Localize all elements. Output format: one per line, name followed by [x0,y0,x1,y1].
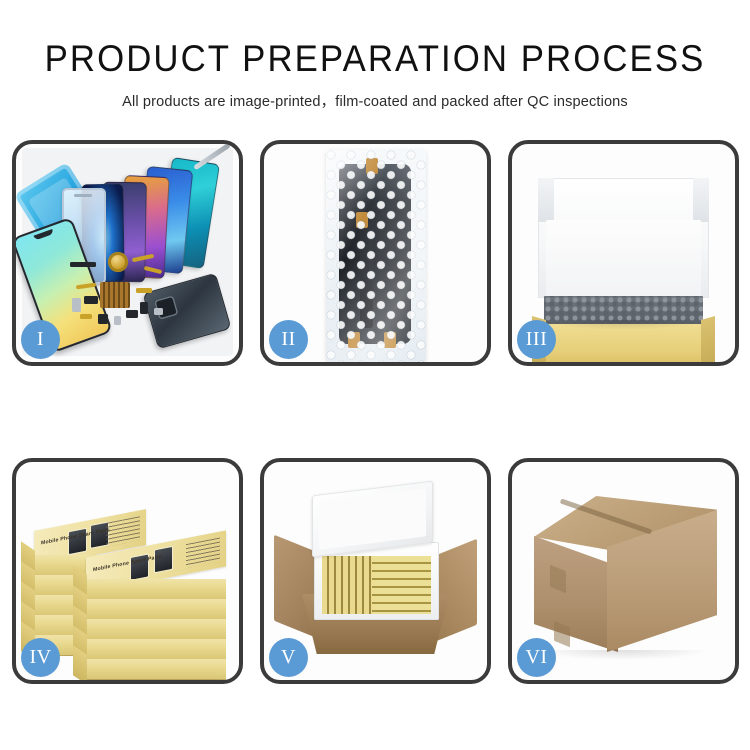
small-components-group [70,258,190,344]
open-carton-group [274,484,477,662]
box-spec-lines [106,516,140,547]
retail-box-edge [86,659,226,680]
carton-left-face [534,536,618,652]
page-subtitle: All products are image-printed，film-coat… [11,90,739,111]
component-chip [126,310,138,318]
box-spec-lines [186,538,220,569]
carton-drop-shadow [538,650,709,660]
page-title: PRODUCT PREPARATION PROCESS [23,40,728,79]
step-badge-4: IV [21,638,60,677]
process-step-panel-1[interactable]: I [12,140,243,366]
open-foam-box-group [532,178,715,320]
process-step-panel-5[interactable]: V [260,458,491,684]
component-chip [84,296,98,304]
speaker-coil-part [108,252,128,272]
retail-box-label: Mobile Phone Spare Parts [93,554,162,573]
retail-box-edge [86,639,226,660]
component-chip [72,298,81,312]
step-badge-2: II [269,320,308,359]
plastic-sheen-layer [326,150,426,362]
bubble-wrap-pouch [326,150,426,362]
component-chip [114,316,121,325]
component-chip [70,262,96,267]
process-step-panel-2[interactable]: II [260,140,491,366]
page-header: PRODUCT PREPARATION PROCESS All products… [0,0,750,111]
retail-box-stack-group: Mobile Phone Spare Parts Mobile Phone Sp… [30,486,225,664]
retail-box-stack-right: Mobile Phone Spare Parts [86,544,226,680]
box-drop-shadow [542,320,705,330]
step-badge-6: VI [517,638,556,677]
packed-retail-boxes [322,556,431,614]
process-step-panel-3[interactable]: III [508,140,739,366]
logic-board-part [100,282,130,308]
step-badge-5: V [269,638,308,677]
retail-box-edge [86,619,226,640]
step-badge-3: III [517,320,556,359]
flex-cable-part [144,266,162,274]
component-chip [140,302,148,314]
component-chip [80,314,92,319]
component-chip [154,308,163,315]
step-badge-1: I [21,320,60,359]
retail-box-edge [86,599,226,620]
process-step-panel-4[interactable]: Mobile Phone Spare Parts Mobile Phone Sp… [12,458,243,684]
component-chip [136,288,152,293]
process-step-panel-6[interactable]: VI [508,458,739,684]
retail-box-edge [86,579,226,600]
component-chip [98,314,108,324]
flex-cable-part [76,283,96,290]
process-step-grid: I II [12,140,738,684]
white-foam-sheet [546,220,701,306]
sealed-carton-group [528,496,719,654]
